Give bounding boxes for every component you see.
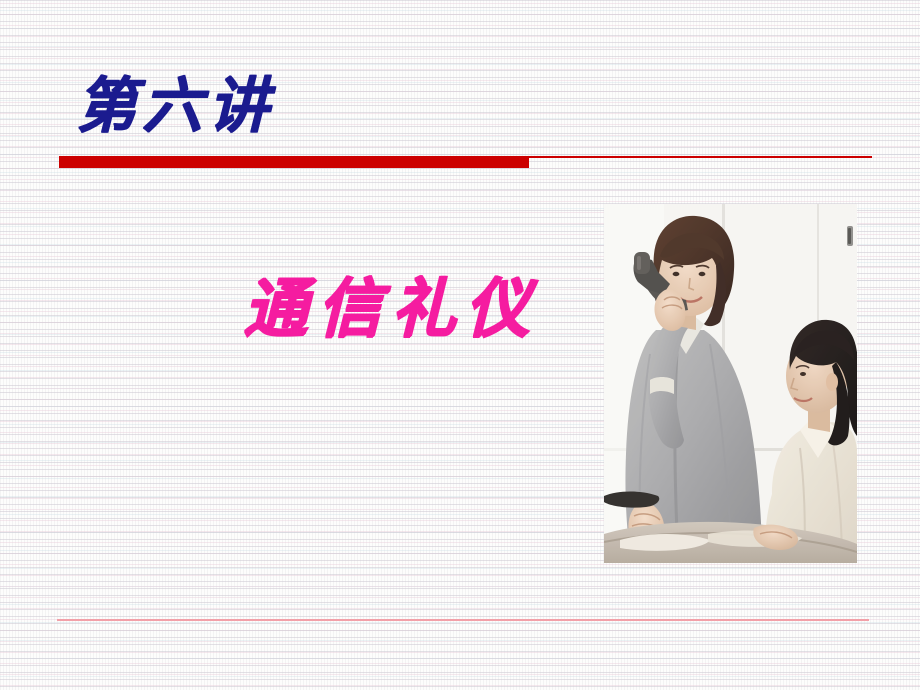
page-title: 第六讲 — [76, 76, 274, 136]
main-title: 通信礼仪 — [243, 277, 539, 341]
office-telephone-photo — [604, 204, 857, 563]
divider-thick-bar — [59, 156, 529, 168]
slide-canvas: 第六讲 通信礼仪 — [0, 0, 920, 690]
bottom-divider-rule — [57, 619, 869, 621]
photo-illustration — [604, 204, 857, 563]
